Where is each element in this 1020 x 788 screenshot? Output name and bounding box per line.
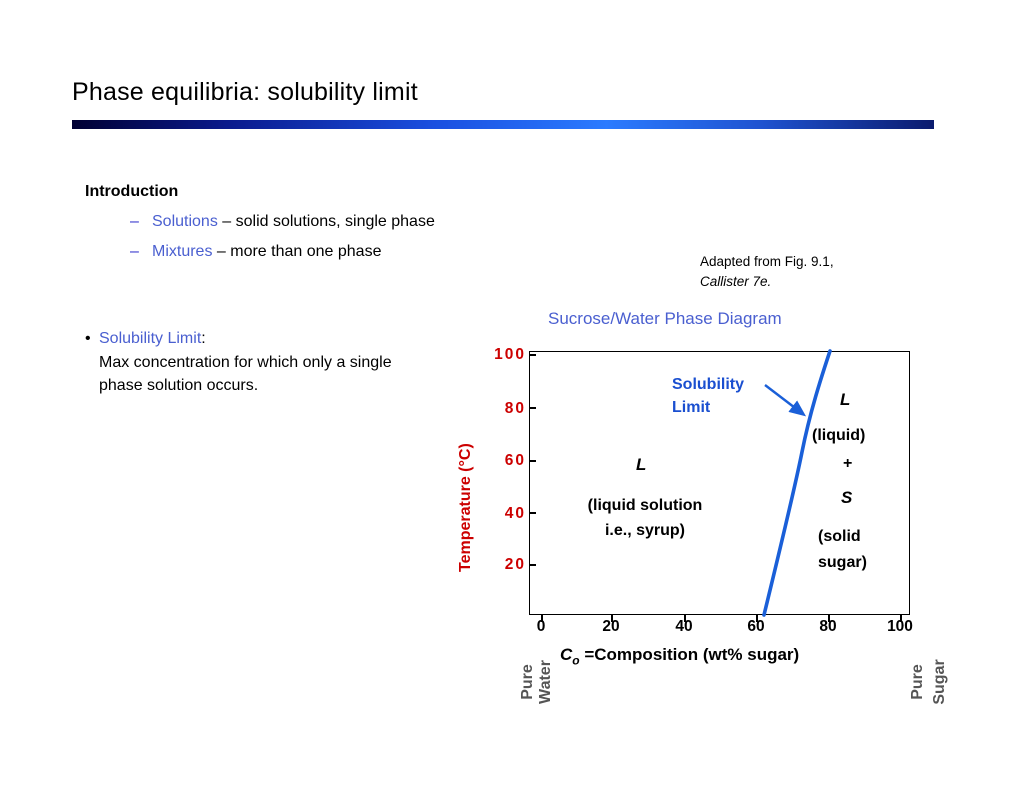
- two-phase-solid-caption-line1: (solid: [818, 524, 867, 550]
- two-phase-liquid-symbol: L: [840, 390, 850, 410]
- axis-end-label-pure-sugar: Pure Sugar: [898, 660, 954, 708]
- list-item: –Solutions – solid solutions, single pha…: [130, 213, 435, 231]
- page-title: Phase equilibria: solubility limit: [72, 78, 418, 107]
- y-tick-mark: [529, 564, 536, 566]
- figure-credit-line1: Adapted from Fig. 9.1,: [700, 252, 834, 272]
- y-tick-label-80: 80: [484, 400, 526, 418]
- two-phase-solid-caption: (solid sugar): [818, 524, 867, 575]
- two-phase-solid-symbol: S: [841, 488, 852, 508]
- solubility-limit-bullet: •Solubility Limit: Max concentration for…: [85, 327, 425, 398]
- liquid-region-caption: (liquid solution i.e., syrup): [560, 494, 730, 544]
- chart-title: Sucrose/Water Phase Diagram: [548, 309, 782, 329]
- chart-y-axis-label-text: Temperature (°C): [457, 443, 475, 572]
- axis-end-label-pure-water: Pure Water: [500, 660, 556, 708]
- bullet-marker: •: [85, 327, 99, 350]
- x-tick-mark: [611, 615, 613, 622]
- list-item-keyword: Mixtures: [152, 243, 212, 260]
- dash-marker: –: [130, 213, 152, 231]
- y-tick-label-20: 20: [484, 556, 526, 574]
- solubility-limit-callout: Solubility Limit: [672, 373, 744, 419]
- axis-end-label-pure-water-line2: Water: [518, 674, 574, 690]
- y-tick-mark: [529, 512, 536, 514]
- y-tick-label-60: 60: [484, 452, 526, 470]
- list-item-text: – solid solutions, single phase: [218, 213, 435, 230]
- x-tick-mark: [684, 615, 686, 622]
- y-tick-label-40: 40: [484, 505, 526, 523]
- intro-heading: Introduction: [85, 183, 178, 201]
- two-phase-liquid-caption: (liquid): [812, 427, 865, 445]
- y-tick-label-100: 100: [484, 346, 526, 364]
- chart-x-axis-label-rest: =Composition (wt% sugar): [580, 645, 800, 664]
- solubility-limit-callout-line2: Limit: [672, 396, 744, 419]
- y-tick-mark: [529, 460, 536, 462]
- solubility-limit-keyword: Solubility Limit: [99, 330, 201, 347]
- y-tick-mark: [529, 407, 536, 409]
- chart-x-axis-label-subscript: o: [572, 653, 579, 667]
- title-divider: [72, 120, 934, 129]
- liquid-region-caption-line1: (liquid solution: [560, 494, 730, 519]
- figure-credit-line2: Callister 7e.: [700, 272, 834, 292]
- dash-marker: –: [130, 243, 152, 261]
- liquid-region-caption-line2: i.e., syrup): [560, 519, 730, 544]
- list-item-text: – more than one phase: [212, 243, 381, 260]
- slide-canvas: Phase equilibria: solubility limit Intro…: [0, 0, 1020, 788]
- axis-end-label-pure-sugar-line2: Sugar: [912, 674, 968, 690]
- solubility-limit-colon: :: [201, 330, 205, 347]
- two-phase-plus-sign: +: [843, 455, 852, 473]
- chart-x-axis-label-symbol: C: [560, 645, 572, 664]
- x-tick-mark: [541, 615, 543, 622]
- chart-x-axis-label: Co =Composition (wt% sugar): [560, 645, 799, 667]
- two-phase-solid-caption-line2: sugar): [818, 550, 867, 576]
- liquid-region-symbol: L: [636, 455, 646, 475]
- solubility-limit-body: Max concentration for which only a singl…: [99, 351, 425, 397]
- list-item-keyword: Solutions: [152, 213, 218, 230]
- x-tick-mark: [900, 615, 902, 622]
- x-tick-mark: [756, 615, 758, 622]
- solubility-limit-callout-line1: Solubility: [672, 373, 744, 396]
- list-item: –Mixtures – more than one phase: [130, 243, 381, 261]
- figure-credit: Adapted from Fig. 9.1, Callister 7e.: [700, 252, 834, 291]
- y-tick-mark: [529, 354, 536, 356]
- x-tick-mark: [828, 615, 830, 622]
